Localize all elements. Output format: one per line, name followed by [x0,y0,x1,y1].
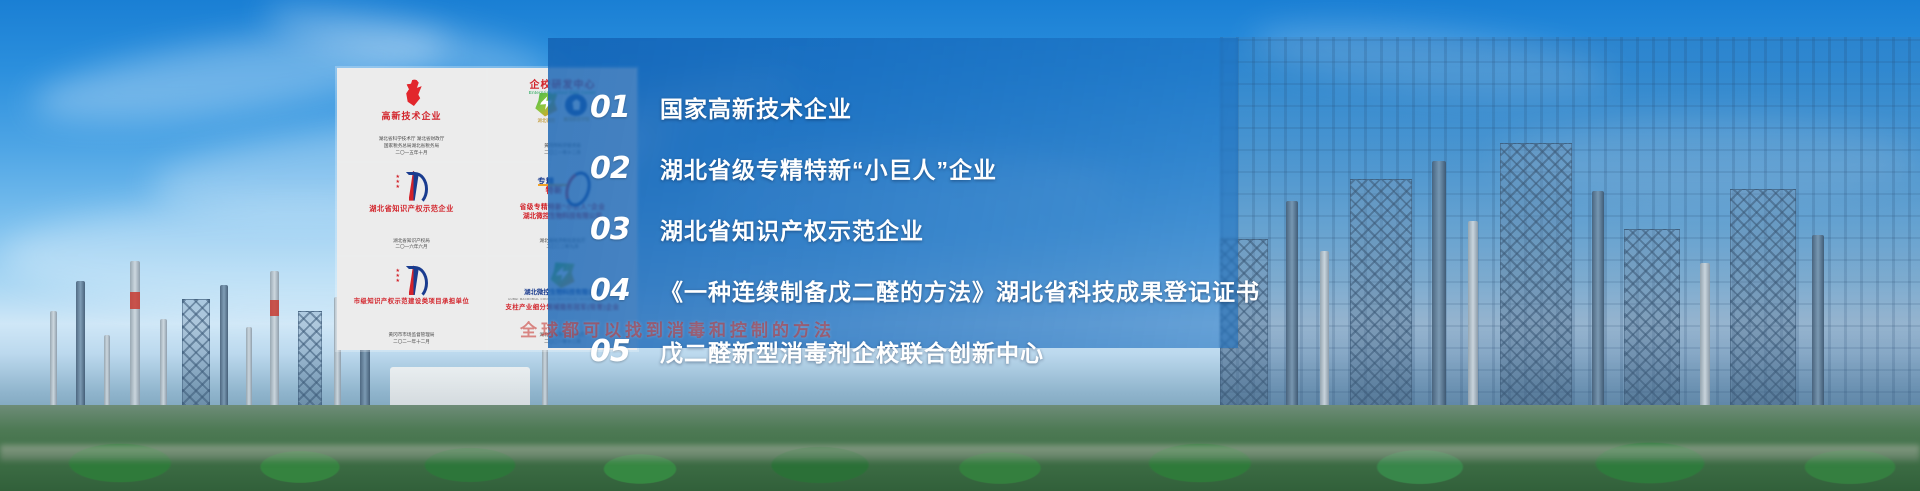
banner-stage: 高新技术企业 湖北省科学技术厅 湖北省财政厅 国家税务总局湖北省税务局 二〇一五… [0,0,1920,491]
achievement-label: 湖北省知识产权示范企业 [660,212,924,246]
ground-path [0,445,1920,461]
achievement-item[interactable]: 04 《一种连续制备戊二醛的方法》湖北省科技成果登记证书 [590,273,1228,308]
achievement-label: 《一种连续制备戊二醛的方法》湖北省科技成果登记证书 [660,273,1260,307]
certificate-card[interactable]: 高新技术企业 湖北省科学技术厅 湖北省财政厅 国家税务总局湖北省税务局 二〇一五… [337,68,486,161]
achievement-number: 02 [590,151,634,186]
achievement-number: 04 [590,273,634,308]
achievement-item[interactable]: 01 国家高新技术企业 [590,90,1228,125]
certificate-issuer: 湖北省科学技术厅 湖北省财政厅 国家税务总局湖北省税务局 二〇一五年十月 [379,136,445,157]
achievement-item[interactable]: 02 湖北省级专精特新“小巨人”企业 [590,151,1228,186]
achievement-item[interactable]: 03 湖北省知识产权示范企业 [590,212,1228,247]
flame-emblem-icon [400,74,424,108]
slogan-watermark: 全球都可以找到消毒和控制的方法 [520,316,835,341]
certificate-title: 高新技术企业 [381,109,441,122]
certificate-issuer: 黄冈市市场监督管理局 二〇二一年十二月 [389,332,435,346]
stars-icon: ★★★ [396,269,400,284]
ip-sail-emblem-icon: ★★★ [396,263,428,297]
certificate-issuer: 湖北省知识产权局 二〇一六年六月 [393,238,430,252]
stars-icon: ★★★ [396,175,400,190]
achievement-number: 03 [590,212,634,247]
issuer-date: 二〇二一年十二月 [389,339,435,346]
achievement-number: 01 [590,90,634,125]
ip-sail-emblem-icon: ★★★ [396,169,428,203]
achievement-label: 湖北省级专精特新“小巨人”企业 [660,151,997,185]
issuer-date: 二〇一五年十月 [379,150,445,157]
certificate-card[interactable]: ★★★ 市级知识产权示范建设类项目承担单位 黄冈市市场监督管理局 二〇二一年十二… [337,257,486,350]
achievement-label: 国家高新技术企业 [660,90,852,124]
issuer-date: 二〇一六年六月 [393,244,430,251]
achievements-panel: 01 国家高新技术企业 02 湖北省级专精特新“小巨人”企业 03 湖北省知识产… [548,38,1238,348]
issuer-line-1: 湖北省科学技术厅 湖北省财政厅 [379,136,445,143]
certificate-card[interactable]: ★★★ 湖北省知识产权示范企业 湖北省知识产权局 二〇一六年六月 [337,163,486,256]
issuer-line-2: 国家税务总局湖北省税务局 [379,143,445,150]
refinery-complex-right [1220,37,1920,437]
